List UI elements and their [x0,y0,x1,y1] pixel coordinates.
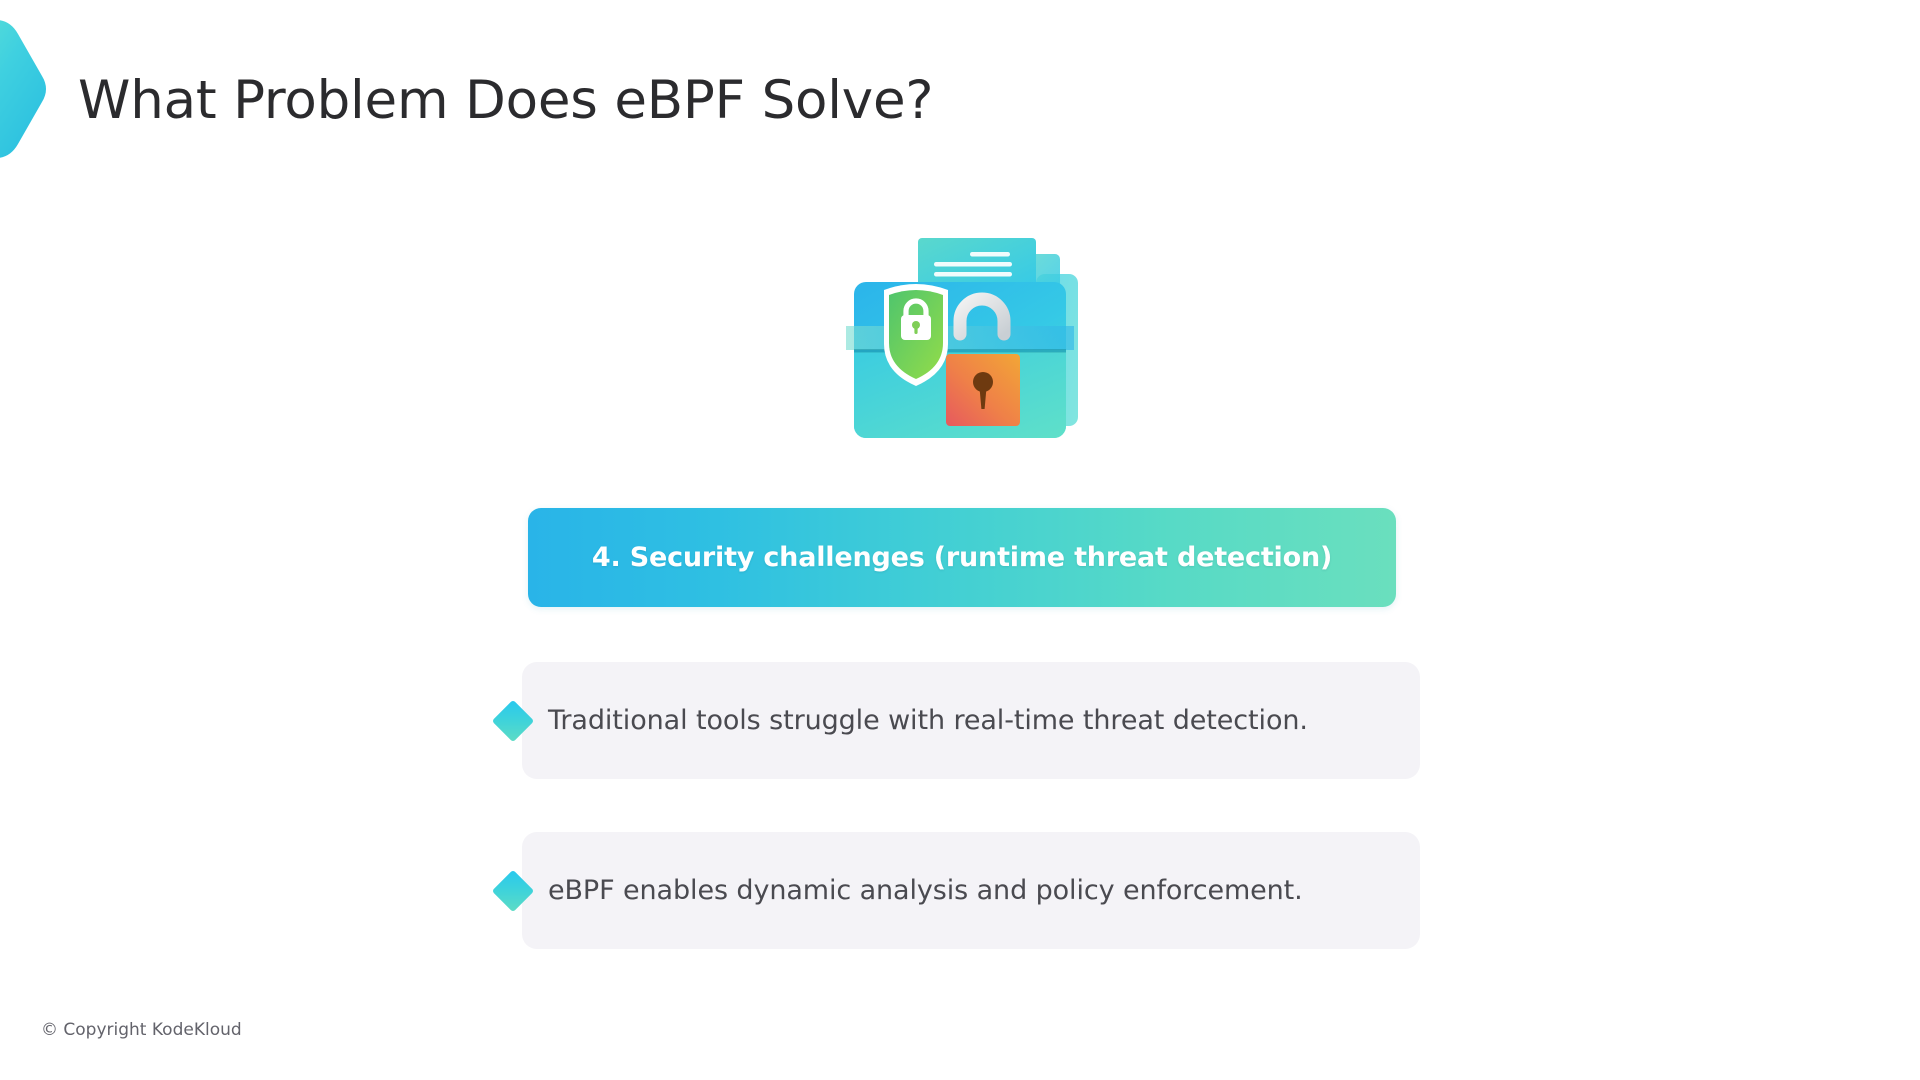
diamond-bullet-icon [492,699,534,741]
page-title: What Problem Does eBPF Solve? [78,70,933,131]
list-item: eBPF enables dynamic analysis and policy… [498,832,1303,949]
section-banner: 4. Security challenges (runtime threat d… [528,508,1396,607]
secure-briefcase-illustration [838,230,1086,452]
copyright-footer: © Copyright KodeKloud [41,1020,242,1040]
bullet-text: Traditional tools struggle with real-tim… [548,705,1308,736]
slide-canvas: What Problem Does eBPF Solve? [0,0,1920,1080]
section-banner-label: 4. Security challenges (runtime threat d… [592,542,1332,573]
bullet-text: eBPF enables dynamic analysis and policy… [548,875,1303,906]
diamond-bullet-icon [492,869,534,911]
chevron-right-decoration [0,14,76,164]
list-item: Traditional tools struggle with real-tim… [498,662,1308,779]
